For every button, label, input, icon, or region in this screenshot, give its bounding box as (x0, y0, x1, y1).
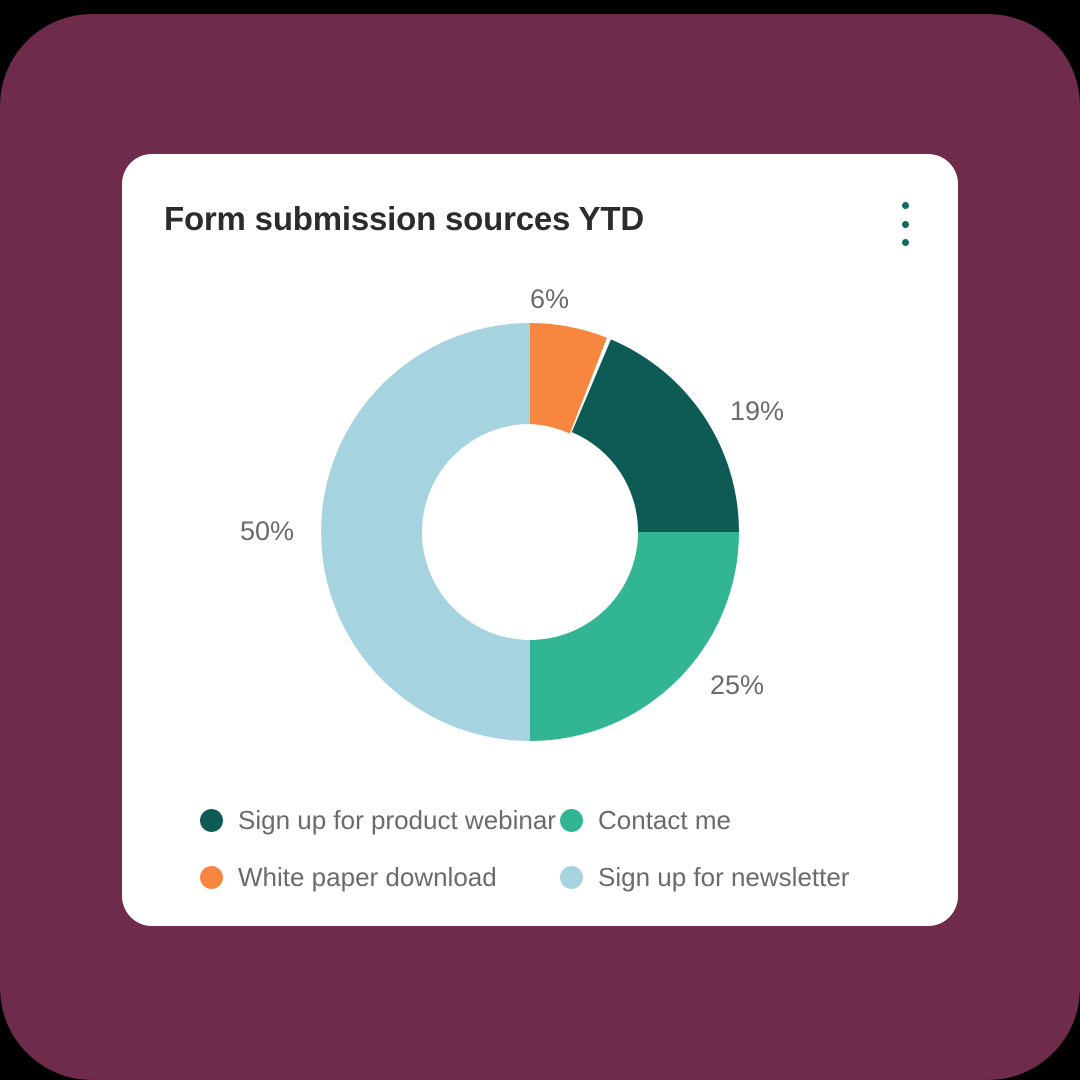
donut-slice-sign-up-for-newsletter[interactable] (321, 323, 530, 741)
donut-slice-sign-up-for-product-webinar[interactable] (572, 339, 739, 532)
legend-swatch-icon (200, 809, 223, 832)
legend-swatch-icon (560, 809, 583, 832)
chart-legend: Sign up for product webinar Contact me W… (200, 792, 900, 906)
donut-chart: 6% 19% 25% 50% (122, 154, 958, 794)
slice-value-white-paper-download: 6% (530, 284, 569, 315)
slice-value-sign-up-for-product-webinar: 19% (730, 396, 784, 427)
donut-slice-contact-me[interactable] (530, 532, 739, 741)
legend-item-label: Sign up for newsletter (598, 862, 849, 893)
slice-value-contact-me: 25% (710, 670, 764, 701)
legend-item-contact-me[interactable]: Contact me (560, 805, 900, 836)
legend-swatch-icon (200, 866, 223, 889)
screenshot-root: Form submission sources YTD 6% 19% (0, 0, 1080, 1080)
legend-item-white-paper-download[interactable]: White paper download (200, 862, 560, 893)
legend-item-label: Contact me (598, 805, 731, 836)
legend-item-sign-up-for-product-webinar[interactable]: Sign up for product webinar (200, 805, 560, 836)
legend-item-label: White paper download (238, 862, 497, 893)
legend-swatch-icon (560, 866, 583, 889)
slice-value-sign-up-for-newsletter: 50% (240, 516, 294, 547)
chart-card: Form submission sources YTD 6% 19% (122, 154, 958, 926)
legend-item-label: Sign up for product webinar (238, 805, 556, 836)
legend-item-sign-up-for-newsletter[interactable]: Sign up for newsletter (560, 862, 900, 893)
donut-chart-svg (321, 323, 739, 741)
